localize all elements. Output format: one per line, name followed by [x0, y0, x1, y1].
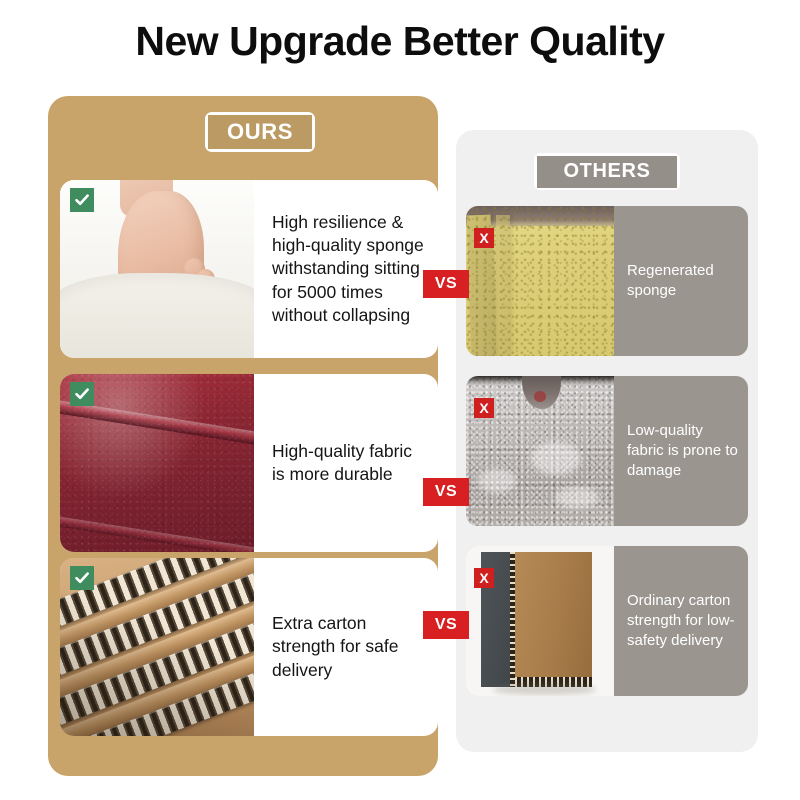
check-icon [70, 566, 94, 590]
x-icon: X [474, 228, 494, 248]
check-icon [70, 382, 94, 406]
ours-badge: OURS [205, 112, 315, 152]
vs-badge-sponge: VS [423, 270, 469, 298]
others-panel: OTHERS X Regenerated sponge [456, 130, 758, 752]
others-badge-label: OTHERS [537, 156, 677, 188]
ours-row-fabric-label: High-quality fabric is more durable [254, 374, 438, 552]
burgundy-leather-fabric-photo [60, 374, 254, 552]
x-icon: X [474, 398, 494, 418]
others-row-sponge-label: Regenerated sponge [614, 206, 748, 356]
ours-badge-label: OURS [208, 115, 312, 149]
others-row-fabric: X Low-quality fabric is prone to damage [466, 376, 748, 526]
yellow-regenerated-sponge-photo: X [466, 206, 614, 356]
foam-slab [60, 273, 254, 358]
ours-row-carton: Extra carton strength for safe delivery [60, 558, 438, 736]
worn-gray-fabric-photo: X [466, 376, 614, 526]
carton-shadow [493, 684, 597, 695]
ours-panel: OURS [48, 96, 438, 776]
others-row-carton: X Ordinary carton strength for low-safet… [466, 546, 748, 696]
ours-row-sponge-label: High resilience & high-quality sponge wi… [254, 180, 438, 358]
worn-fabric-patch-2 [478, 469, 516, 493]
ours-row-fabric: High-quality fabric is more durable [60, 374, 438, 552]
x-icon: X [474, 568, 494, 588]
ours-row-carton-label: Extra carton strength for safe delivery [254, 558, 438, 736]
foot-pressing-memory-foam-photo [60, 180, 254, 358]
others-row-sponge: X Regenerated sponge [466, 206, 748, 356]
vs-badge-carton: VS [423, 611, 469, 639]
vs-badge-fabric: VS [423, 478, 469, 506]
corrugated-cardboard-layers-photo [60, 558, 254, 736]
worn-fabric-patch-3 [555, 487, 599, 508]
others-row-fabric-label: Low-quality fabric is prone to damage [614, 376, 748, 526]
worn-fabric-patch-1 [531, 442, 581, 475]
others-badge: OTHERS [534, 153, 680, 190]
others-row-carton-label: Ordinary carton strength for low-safety … [614, 546, 748, 696]
comparison-infographic: New Upgrade Better Quality OTHERS X Rege… [0, 0, 800, 800]
ordinary-carton-corner-photo: X [466, 546, 614, 696]
worn-fabric-red-spot [534, 391, 546, 402]
ours-row-sponge: High resilience & high-quality sponge wi… [60, 180, 438, 358]
check-icon [70, 188, 94, 212]
page-title: New Upgrade Better Quality [0, 18, 800, 65]
carton-front-panel [515, 552, 592, 684]
